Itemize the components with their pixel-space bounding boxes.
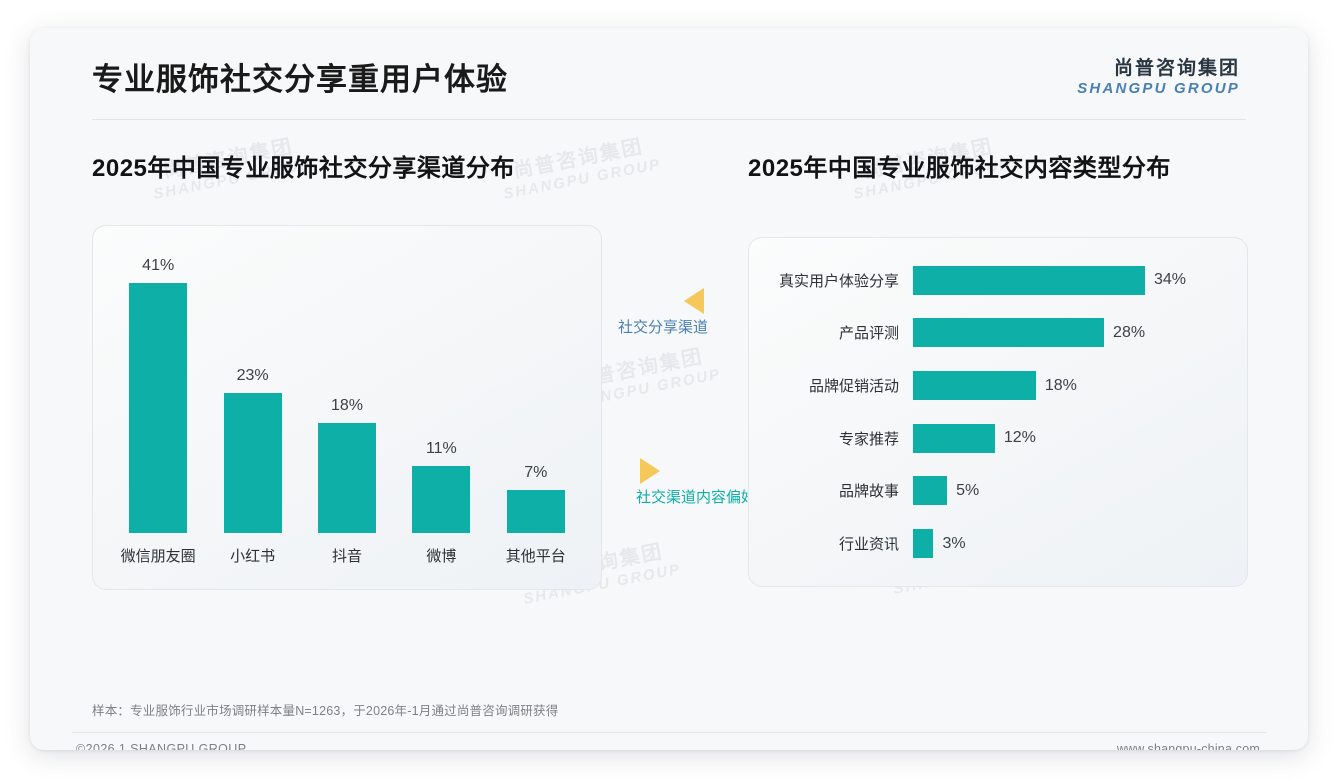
horizontal-bar-item: 品牌故事5% [763, 474, 1233, 508]
vertical-bar-category-label: 微信朋友圈 [113, 545, 203, 566]
vertical-bar-value: 41% [142, 257, 174, 275]
horizontal-bar-category-label: 产品评测 [763, 322, 913, 343]
vertical-bar-item: 41% [113, 250, 203, 533]
right-chart-card: 真实用户体验分享34%产品评测28%品牌促销活动18%专家推荐12%品牌故事5%… [748, 237, 1248, 587]
left-chart-title: 2025年中国专业服饰社交分享渠道分布 [92, 148, 602, 183]
footer-copyright: ©2026.1 SHANGPU GROUP [76, 742, 246, 750]
triangle-left-icon [684, 288, 704, 314]
footer-website[interactable]: www.shangpu-china.com [1117, 742, 1260, 750]
horizontal-bar-item: 行业资讯3% [763, 527, 1233, 561]
horizontal-bar [913, 529, 933, 558]
horizontal-bar-value: 34% [1145, 271, 1186, 289]
horizontal-bar-item: 品牌促销活动18% [763, 369, 1233, 403]
vertical-bar [412, 466, 470, 533]
header: 专业服饰社交分享重用户体验 尚普咨询集团 SHANGPU GROUP [30, 28, 1308, 120]
vertical-bar-category-label: 小红书 [208, 545, 298, 566]
right-chart-title: 2025年中国专业服饰社交内容类型分布 [748, 148, 1248, 183]
slide: 尚普咨询集团 SHANGPU GROUP 尚普咨询集团 SHANGPU GROU… [30, 28, 1308, 750]
horizontal-bar-category-label: 品牌故事 [763, 480, 913, 501]
vertical-bar-value: 11% [426, 440, 457, 458]
vertical-bar-value: 7% [524, 464, 547, 482]
vertical-bar-group: 41%23%18%11%7% [111, 250, 583, 533]
left-chart-column: 2025年中国专业服饰社交分享渠道分布 41%23%18%11%7% 微信朋友圈… [92, 120, 602, 590]
vertical-bar-item: 18% [302, 250, 392, 533]
footer: ©2026.1 SHANGPU GROUP www.shangpu-china.… [30, 732, 1308, 750]
vertical-bar-item: 7% [491, 250, 581, 533]
horizontal-bar-value: 18% [1036, 377, 1077, 395]
vertical-bar [507, 490, 565, 533]
page-title: 专业服饰社交分享重用户体验 [92, 54, 508, 99]
vertical-bar-item: 11% [396, 250, 486, 533]
vertical-bar-value: 18% [331, 397, 363, 415]
vertical-bar-value: 23% [237, 367, 269, 385]
horizontal-bar-value: 28% [1104, 324, 1145, 342]
horizontal-bar [913, 476, 947, 505]
vertical-bar [224, 393, 282, 533]
horizontal-bar-category-label: 品牌促销活动 [763, 375, 913, 396]
vertical-bar [129, 283, 187, 533]
horizontal-bar-category-label: 专家推荐 [763, 428, 913, 449]
horizontal-bar-category-label: 真实用户体验分享 [763, 270, 913, 291]
horizontal-bar-item: 产品评测28% [763, 316, 1233, 350]
brand-logo: 尚普咨询集团 SHANGPU GROUP [1077, 58, 1240, 98]
vertical-bar-item: 23% [208, 250, 298, 533]
connector-label-channels: 社交分享渠道 [618, 288, 708, 337]
middle-connector: 社交分享渠道 社交渠道内容偏好 [590, 120, 740, 680]
horizontal-bar-item: 真实用户体验分享34% [763, 263, 1233, 297]
horizontal-bar [913, 318, 1104, 347]
vertical-bar-category-label: 其他平台 [491, 545, 581, 566]
brand-logo-cn: 尚普咨询集团 [1077, 58, 1240, 80]
sample-footnote: 样本：专业服饰行业市场调研样本量N=1263，于2026年-1月通过尚普咨询调研… [92, 700, 558, 719]
horizontal-bar-item: 专家推荐12% [763, 421, 1233, 455]
triangle-right-icon [640, 458, 660, 484]
horizontal-bar-value: 5% [947, 482, 979, 500]
horizontal-bar-value: 3% [933, 535, 965, 553]
right-chart-column: 2025年中国专业服饰社交内容类型分布 真实用户体验分享34%产品评测28%品牌… [730, 120, 1248, 587]
vertical-bar-category-label: 抖音 [302, 545, 392, 566]
brand-logo-en: SHANGPU GROUP [1077, 80, 1240, 98]
content-area: 2025年中国专业服饰社交分享渠道分布 41%23%18%11%7% 微信朋友圈… [30, 120, 1308, 680]
horizontal-bar-value: 12% [995, 429, 1036, 447]
horizontal-bar [913, 424, 995, 453]
horizontal-bar-group: 真实用户体验分享34%产品评测28%品牌促销活动18%专家推荐12%品牌故事5%… [763, 254, 1233, 570]
horizontal-bar-category-label: 行业资讯 [763, 533, 913, 554]
horizontal-bar [913, 266, 1145, 295]
vertical-bar-category-label: 微博 [396, 545, 486, 566]
vertical-bar-axis-labels: 微信朋友圈小红书抖音微博其他平台 [111, 541, 583, 569]
horizontal-bar [913, 371, 1036, 400]
left-chart-card: 41%23%18%11%7% 微信朋友圈小红书抖音微博其他平台 [92, 225, 602, 590]
vertical-bar [318, 423, 376, 533]
connector-label-channels-text: 社交分享渠道 [618, 319, 708, 336]
